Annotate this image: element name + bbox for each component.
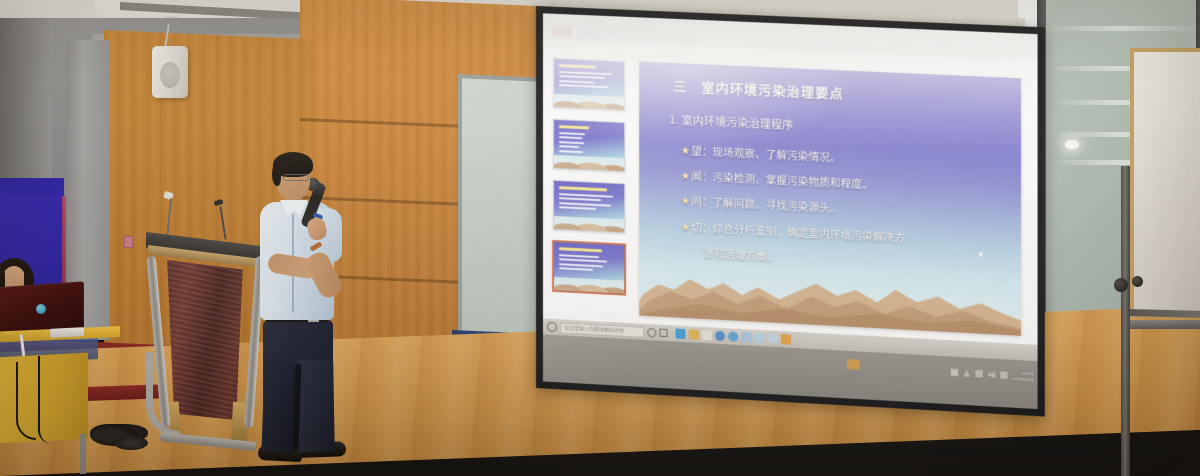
desk-cable	[38, 356, 52, 444]
cable-bundle	[114, 436, 148, 450]
taskbar-search-input[interactable]: 在这里输入你要搜索的内容	[560, 322, 644, 338]
desk-leg	[80, 434, 86, 474]
seated-operator-desk	[0, 258, 134, 476]
chat-icon[interactable]	[768, 334, 778, 345]
task-view-icon[interactable]	[659, 329, 667, 337]
star-icon: ★	[681, 221, 691, 234]
word-icon[interactable]	[741, 332, 751, 343]
taskbar-pinned-icons[interactable]	[676, 329, 792, 345]
thumbnail-mountain-art	[554, 277, 624, 294]
ribbon-tab-insert[interactable]	[603, 28, 629, 40]
mail-icon[interactable]	[715, 331, 725, 342]
whiteboard-post	[1121, 166, 1130, 476]
slide-bullet-3: ★问：了解问题、寻找污染源头。	[681, 193, 841, 216]
edge-icon[interactable]	[676, 329, 686, 340]
pen-icon[interactable]	[951, 369, 958, 377]
explorer-icon[interactable]	[689, 330, 699, 341]
slide-bullet-1: ★望：现场观察、了解污染情况。	[681, 142, 841, 165]
cortana-circle-icon[interactable]	[647, 328, 656, 338]
search-placeholder-text: 在这里输入你要搜索的内容	[564, 324, 624, 334]
powerpoint-window-badge[interactable]	[847, 359, 859, 370]
wall-speaker	[152, 46, 188, 98]
whiteboard-adjust-knob[interactable]	[1114, 278, 1128, 292]
speaker-grill-icon	[160, 62, 180, 88]
ribbon-tab-home[interactable]	[577, 27, 599, 39]
volume-icon[interactable]	[988, 371, 995, 379]
wall-switch	[124, 236, 133, 248]
leg-right	[297, 360, 335, 453]
slide-bullet-4: ★切：综合分析鉴别、确定室内环境污染解决方	[681, 219, 905, 245]
lectern-curve	[146, 352, 180, 438]
slide-thumbnail-4[interactable]	[553, 241, 625, 295]
slide-thumbnail-rail[interactable]	[553, 58, 625, 317]
chevron-up-icon[interactable]	[963, 370, 970, 378]
taskbar-system-tray[interactable]: 10:54 2019/6/19	[951, 367, 1034, 383]
hair-side	[272, 164, 281, 186]
ribbon-tab-transitions[interactable]	[663, 30, 693, 42]
slide-sun-dot	[978, 253, 982, 257]
thumbnail-mountain-art	[554, 94, 624, 110]
clock-date: 2019/6/19	[1013, 376, 1034, 383]
store-icon[interactable]	[702, 330, 712, 341]
star-icon: ★	[681, 170, 691, 183]
thumbnail-mountain-art	[554, 216, 624, 233]
slide-subtitle: 1. 室内环境污染治理程序	[669, 111, 793, 133]
powerpoint-window: 三 室内环境污染治理要点 1. 室内环境污染治理程序 ★望：现场观察、了解污染情…	[543, 13, 1038, 345]
slide-title: 三 室内环境污染治理要点	[673, 76, 844, 103]
glasses-icon	[283, 174, 309, 181]
slide-bullet-text: 切：综合分析鉴别、确定室内环境污染解决方	[691, 221, 905, 244]
network-icon[interactable]	[975, 370, 982, 378]
glass-reflection	[1046, 26, 1196, 31]
mountain-range-icon	[639, 249, 1021, 336]
slide-thumbnail-3[interactable]	[553, 180, 625, 234]
slide-bullet-text: 望：现场观察、了解污染情况。	[691, 145, 840, 164]
star-icon: ★	[681, 195, 691, 208]
whiteboard-marker-tray	[1124, 320, 1200, 329]
projection-screen: 三 室内环境污染治理要点 1. 室内环境污染治理程序 ★望：现场观察、了解污染情…	[536, 6, 1045, 417]
glass-glare-highlight	[1065, 140, 1079, 149]
slide-bullet-2: ★闻：污染检测、掌握污染物质和程度。	[681, 168, 873, 192]
thumbnail-text-lines	[559, 247, 619, 275]
ribbon-tab-design[interactable]	[633, 29, 659, 41]
thumbnail-text-lines	[559, 64, 619, 91]
laptop-logo-icon	[36, 304, 46, 314]
thumbnail-text-lines	[559, 186, 619, 214]
windows-start-icon[interactable]	[547, 322, 557, 333]
slide-bullet-text: 闻：污染检测、掌握污染物质和程度。	[691, 170, 873, 191]
ribbon-tab-file[interactable]	[551, 26, 573, 38]
taskbar-clock[interactable]: 10:54 2019/6/19	[1013, 370, 1034, 382]
thumbnail-text-lines	[559, 125, 619, 157]
ime-icon[interactable]	[1000, 372, 1007, 380]
speaker-presenting	[246, 152, 366, 468]
screen-surface: 三 室内环境污染治理要点 1. 室内环境污染治理程序 ★望：现场观察、了解污染情…	[543, 13, 1038, 409]
excel-icon[interactable]	[754, 333, 764, 344]
lecture-hall-scene: 三 室内环境污染治理要点 1. 室内环境污染治理程序 ★望：现场观察、了解污染情…	[0, 0, 1200, 476]
network-switch	[50, 327, 84, 338]
slide-thumbnail-2[interactable]	[553, 119, 625, 172]
star-icon: ★	[681, 144, 691, 157]
slide-bullet-text: 问：了解问题、寻找污染源头。	[691, 196, 840, 215]
thumbnail-mountain-art	[554, 155, 624, 171]
slide-thumbnail-1[interactable]	[553, 58, 625, 111]
whiteboard-adjust-knob[interactable]	[1132, 276, 1143, 287]
whiteboard-on-stand	[1122, 48, 1200, 476]
powerpoint-icon[interactable]	[781, 335, 791, 346]
browser-icon[interactable]	[728, 332, 738, 343]
active-slide[interactable]: 三 室内环境污染治理要点 1. 室内环境污染治理程序 ★望：现场观察、了解污染情…	[639, 62, 1021, 337]
desk-cable	[16, 362, 36, 440]
